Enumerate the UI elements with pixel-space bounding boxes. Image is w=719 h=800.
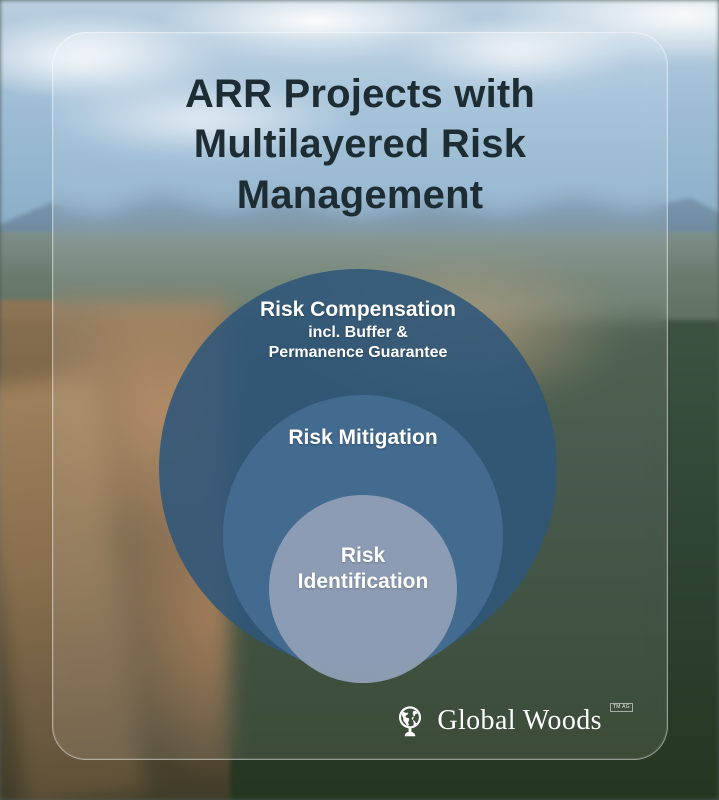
globe-tree-icon — [395, 705, 425, 737]
brand-name: Global Woods — [437, 705, 602, 737]
poster-canvas: ARR Projects with Multilayered Risk Mana… — [0, 0, 719, 800]
risk-compensation-sub-1: incl. Buffer & — [193, 323, 523, 343]
trademark-badge: TM AG — [610, 703, 633, 712]
circle-risk-identification: Risk Identification — [269, 495, 457, 683]
brand-logo: Global Woods TM AG — [395, 705, 633, 737]
nested-circles-diagram: Risk Compensation incl. Buffer & Permane… — [53, 33, 667, 759]
risk-compensation-title: Risk Compensation — [193, 297, 523, 323]
circle-risk-identification-label: Risk Identification — [275, 543, 451, 683]
risk-compensation-sub-2: Permanence Guarantee — [193, 343, 523, 363]
risk-identification-line-1: Risk — [275, 543, 451, 569]
glass-card: ARR Projects with Multilayered Risk Mana… — [52, 32, 668, 760]
risk-identification-line-2: Identification — [275, 569, 451, 595]
